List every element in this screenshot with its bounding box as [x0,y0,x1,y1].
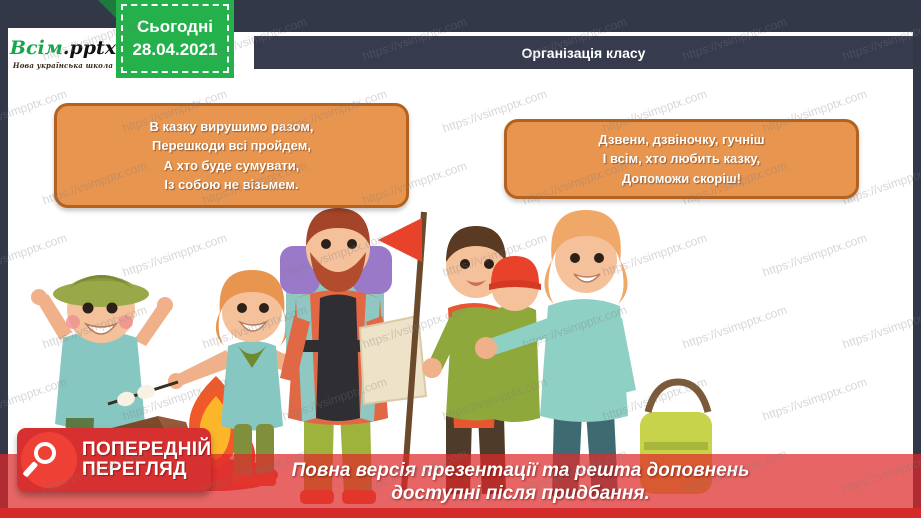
magnifier-handle [22,461,38,478]
preview-badge[interactable]: ПОПЕРЕДНІЙ ПЕРЕГЛЯД [17,428,211,492]
magnifier-ring [34,442,56,464]
banner-bottom-strip [0,508,921,518]
rhyme-text-right: Дзвени, дзвіночку, гучніш І всім, хто лю… [598,130,764,189]
slide-header: Організація класу [254,36,913,69]
slide-root: Всім.pptx Нова українська школа Сьогодні… [0,0,921,518]
rhyme-box-left: В казку вирушимо разом, Перешкоди всі пр… [54,103,409,208]
date-badge-label: Сьогодні [137,16,213,39]
logo-brand-green: Всім [10,37,63,59]
preview-badge-label: ПОПЕРЕДНІЙ ПЕРЕГЛЯД [82,440,211,480]
page-title: Організація класу [522,45,646,61]
magnifier-icon [21,432,77,488]
logo: Всім.pptx Нова українська школа [8,28,118,80]
logo-brand-dark: .pptx [63,37,116,59]
date-badge-date: 28.04.2021 [132,39,217,62]
rhyme-box-right: Дзвени, дзвіночку, гучніш І всім, хто лю… [504,119,859,199]
rhyme-text-left: В казку вирушимо разом, Перешкоди всі пр… [150,117,314,195]
logo-brand: Всім.pptx [10,39,116,58]
date-badge: Сьогодні 28.04.2021 [116,0,234,78]
purchase-banner-text: Повна версія презентації та решта доповн… [292,460,750,506]
logo-tagline: Нова українська школа [13,61,113,70]
